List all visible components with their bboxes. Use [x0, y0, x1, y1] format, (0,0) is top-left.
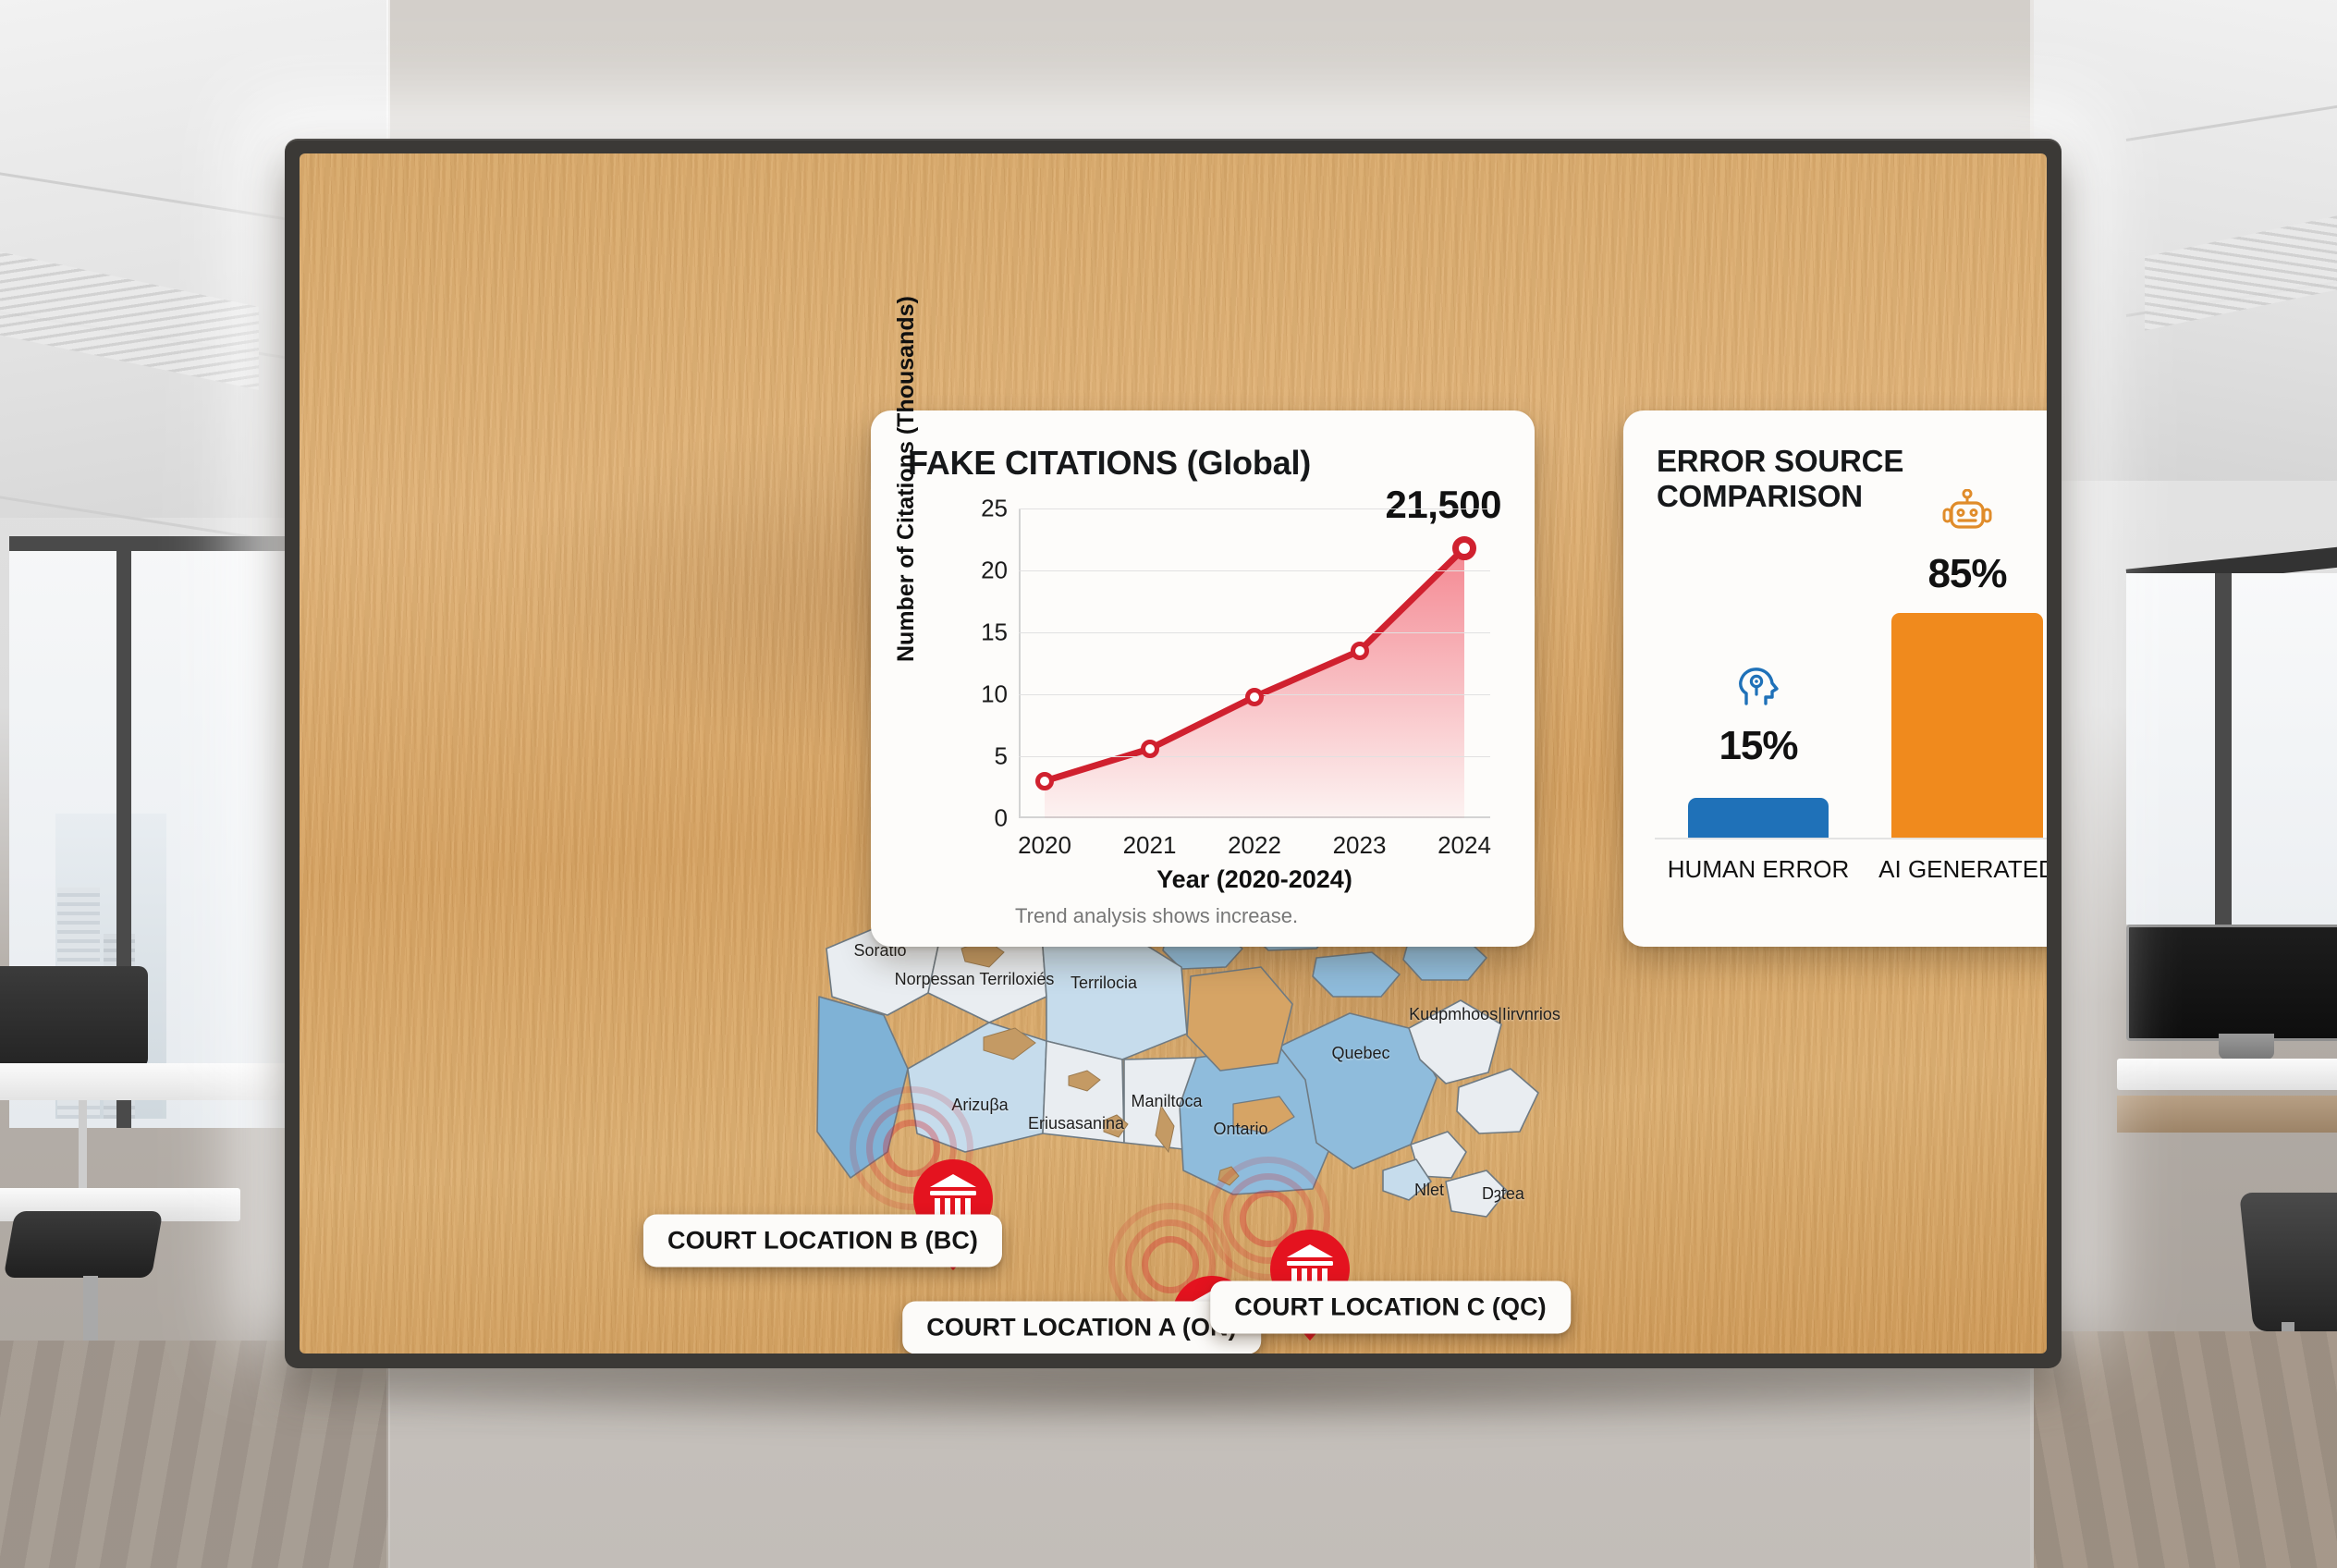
chart-gridline — [1019, 570, 1490, 571]
map-region-label: Quebec — [1331, 1045, 1389, 1063]
bar-ai-generated[interactable] — [1891, 613, 2043, 838]
map-region-label: Ontario — [1213, 1121, 1267, 1139]
map-region-label: Terrilocia — [1071, 974, 1137, 993]
y-axis-tick: 5 — [995, 742, 1008, 771]
x-axis-tick: 2020 — [1018, 831, 1071, 860]
bar-category-human: HUMAN ERROR — [1668, 855, 1849, 884]
wood-floor — [2034, 1331, 2337, 1568]
bar-chart-plot: 15% HUMAN ERROR — [1655, 521, 2047, 891]
bar-category-ai: AI GENERATED — [1878, 855, 2047, 884]
fake-citations-card[interactable]: FAKE CITATIONS (Global) 21,500 Number of… — [871, 410, 1535, 947]
office-chair — [0, 966, 148, 1068]
map-region-label: Norpessan Terriloxiés — [895, 971, 1055, 989]
line-chart-plot: 051015202520202021202220232024 — [1019, 508, 1490, 818]
error-source-card[interactable]: ERROR SOURCE COMPARISON 15% HUMAN ERROR — [1623, 410, 2047, 947]
bar-value-ai: 85% — [1927, 551, 2006, 597]
window-right — [2126, 573, 2337, 925]
chart-footnote: Trend analysis shows increase. — [1015, 904, 1298, 928]
desk-edge — [2117, 1096, 2337, 1133]
court-label-b[interactable]: COURT LOCATION B (BC) — [643, 1215, 1002, 1268]
data-point[interactable] — [1245, 688, 1264, 706]
bar-baseline — [1655, 838, 2047, 839]
map-region-label: Nlet — [1414, 1182, 1444, 1200]
y-axis-tick: 15 — [981, 619, 1008, 647]
chart-gridline — [1019, 508, 1490, 509]
y-axis-tick: 25 — [981, 495, 1008, 523]
x-axis-tick: 2023 — [1333, 831, 1387, 860]
robot-icon — [1941, 489, 1993, 542]
presentation-board: .land{stroke:#6f7a82;stroke-width:1.6;st… — [285, 139, 2062, 1368]
data-point[interactable] — [1035, 772, 1054, 790]
bar-value-human: 15% — [1719, 723, 1797, 769]
card-title-line: FAKE CITATIONS (Global) — [908, 444, 1311, 483]
monitor-stand — [2219, 1034, 2274, 1060]
window-mullion — [2215, 573, 2232, 925]
bar-human-error[interactable] — [1688, 798, 1829, 838]
court-label-c[interactable]: COURT LOCATION C (QC) — [1210, 1281, 1571, 1334]
x-axis-tick: 2022 — [1228, 831, 1281, 860]
map-region-label: Eriusasanina — [1028, 1115, 1124, 1133]
office-chair — [2239, 1193, 2337, 1331]
board-wood-surface: .land{stroke:#6f7a82;stroke-width:1.6;st… — [300, 153, 2047, 1354]
office-scene: .land{stroke:#6f7a82;stroke-width:1.6;st… — [0, 0, 2337, 1568]
x-axis-label: Year (2020-2024) — [1019, 865, 1490, 894]
office-desk — [2117, 1059, 2337, 1090]
office-chair — [4, 1211, 164, 1278]
x-axis-tick: 2024 — [1438, 831, 1491, 860]
y-axis-tick: 20 — [981, 557, 1008, 585]
data-point[interactable] — [1351, 642, 1369, 660]
data-point[interactable] — [1141, 740, 1159, 758]
chart-gridline — [1019, 756, 1490, 757]
chart-gridline — [1019, 632, 1490, 633]
map-region-label: Dȝtea — [1482, 1185, 1524, 1204]
court-label-a[interactable]: COURT LOCATION A (ON) — [902, 1302, 1261, 1354]
map-region-label: Kudpmhoos|Iirvnrios — [1409, 1006, 1560, 1024]
computer-monitor — [2126, 925, 2337, 1041]
x-axis-tick: 2021 — [1123, 831, 1177, 860]
head-brain-icon — [1734, 663, 1782, 716]
y-axis-label: Number of Citations (Thousands) — [893, 296, 920, 662]
line-series-svg — [1019, 508, 1490, 818]
y-axis-tick: 10 — [981, 680, 1008, 709]
y-axis-tick: 0 — [995, 804, 1008, 833]
data-point[interactable] — [1452, 536, 1476, 560]
map-region-label: Maniltoca — [1131, 1093, 1202, 1111]
